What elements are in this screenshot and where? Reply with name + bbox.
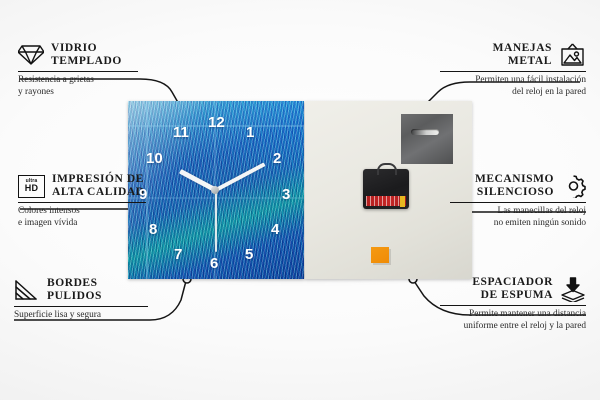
callout-desc-line1: Resistencia a grietas: [18, 75, 158, 86]
callout-title-line1: VIDRIO: [51, 42, 122, 55]
callout-vidrio-templado: VIDRIO TEMPLADO Resistencia a grietas y …: [18, 42, 158, 98]
callout-mecanismo-silencioso: MECANISMO SILENCIOSO Las manecillas del …: [450, 173, 586, 229]
callout-manejas-metal: MANEJAS METAL Permiten una fácil instala…: [440, 42, 586, 98]
wall-clock-back-panel: [305, 101, 472, 279]
callout-desc-line2: no emiten ningún sonido: [450, 218, 586, 229]
gear-icon: [561, 174, 586, 198]
ultra-hd-icon: ultra HD: [18, 175, 45, 198]
clock-numeral-10: 10: [146, 151, 163, 166]
ultra-hd-icon-main-text: HD: [25, 184, 39, 193]
clock-numeral-6: 6: [210, 256, 218, 271]
foam-spacer-pad: [371, 247, 389, 263]
clock-center-cap: [211, 186, 219, 194]
callout-desc-line1: Permite mantener una distancia: [440, 309, 586, 320]
callout-espaciador-espuma: ESPACIADOR DE ESPUMA Permite mantener un…: [440, 276, 586, 332]
hanger-slot: [411, 129, 439, 135]
callout-title-line1: BORDES: [47, 277, 102, 290]
callout-desc-line2: y rayones: [18, 87, 158, 98]
clock-numeral-11: 11: [173, 125, 189, 140]
callout-desc-line1: Colores intensos: [18, 206, 168, 217]
callout-title-line1: MANEJAS: [493, 42, 552, 55]
foam-spacer-icon: [560, 277, 586, 302]
clock-numeral-3: 3: [282, 187, 290, 202]
callout-desc-line1: Superficie lisa y segura: [14, 310, 164, 321]
callout-rule: [440, 305, 586, 306]
metal-hanger-plate: [401, 114, 453, 164]
clock-numeral-7: 7: [174, 247, 182, 262]
product-group: 12 1 2 3 4 5 6 7 8 9 10 11: [128, 101, 472, 279]
polished-edges-icon: [14, 278, 40, 302]
clock-mechanism: [363, 169, 409, 209]
callout-title-line2: METAL: [493, 55, 552, 68]
callout-title-line2: DE ESPUMA: [472, 289, 553, 302]
callout-title-line2: PULIDOS: [47, 290, 102, 303]
callout-title-line1: IMPRESIÓN DE: [52, 173, 145, 186]
clock-second-hand: [215, 190, 217, 252]
callout-title-line1: MECANISMO: [475, 173, 554, 186]
callout-desc-line2: del reloj en la pared: [440, 87, 586, 98]
callout-bordes-pulidos: BORDES PULIDOS Superficie lisa y segura: [14, 277, 164, 322]
clock-numeral-12: 12: [208, 115, 225, 130]
clock-numeral-2: 2: [273, 151, 281, 166]
infographic-canvas: 12 1 2 3 4 5 6 7 8 9 10 11: [0, 0, 600, 400]
callout-title-line1: ESPACIADOR: [472, 276, 553, 289]
clock-numeral-4: 4: [271, 222, 279, 237]
mechanism-battery-marker: [400, 196, 405, 207]
clock-numeral-8: 8: [149, 222, 157, 237]
callout-desc-line1: Las manecillas del reloj: [450, 206, 586, 217]
callout-desc-line1: Permiten una fácil instalación: [440, 75, 586, 86]
callout-rule: [18, 71, 138, 72]
callout-rule: [440, 71, 586, 72]
callout-title-line2: TEMPLADO: [51, 55, 122, 68]
clock-numeral-5: 5: [245, 247, 253, 262]
callout-title-line2: ALTA CALIDAD: [52, 186, 145, 199]
callout-title-line2: SILENCIOSO: [475, 186, 554, 199]
callout-rule: [14, 306, 148, 307]
mechanism-hook: [377, 163, 397, 175]
diamond-icon: [18, 43, 44, 67]
clock-numeral-9: 9: [139, 187, 147, 202]
callout-desc-line2: uniforme entre el reloj y la pared: [440, 321, 586, 332]
clock-minute-hand: [215, 162, 265, 191]
callout-rule: [450, 202, 586, 203]
picture-frame-icon: [559, 43, 586, 68]
callout-rule: [18, 202, 146, 203]
callout-desc-line2: e imagen vívida: [18, 218, 168, 229]
clock-numeral-1: 1: [246, 125, 254, 140]
